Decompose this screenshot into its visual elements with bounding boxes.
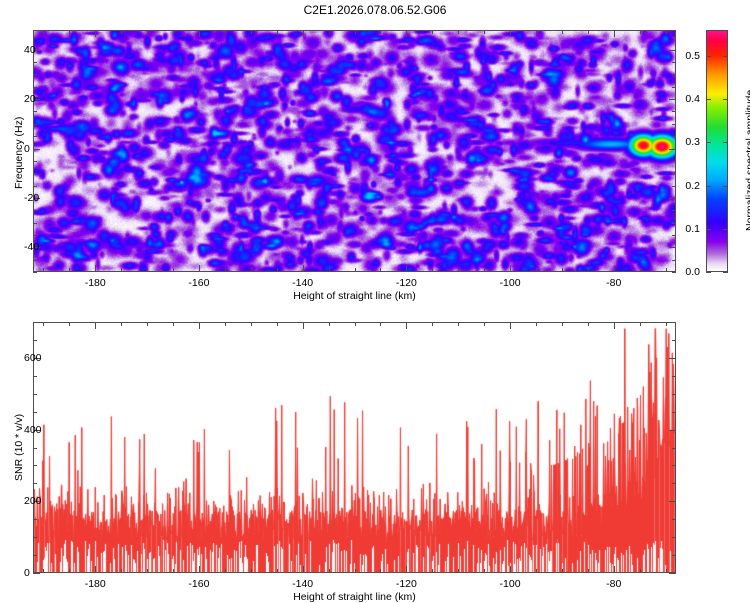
axis-tick: [640, 569, 641, 573]
axis-tick: [33, 62, 37, 63]
colorbar-tick: [706, 56, 711, 57]
colorbar-tick: [723, 142, 728, 143]
axis-tick: [672, 173, 676, 174]
axis-tick: [672, 412, 676, 413]
axis-tick: [303, 322, 304, 329]
axis-tick: [33, 483, 37, 484]
snr-y-axis-title: SNR (10 * v/v): [13, 413, 25, 480]
colorbar-tick: [723, 99, 728, 100]
snr-panel: [33, 322, 676, 573]
axis-tick: [380, 30, 381, 34]
axis-tick: [510, 566, 511, 573]
axis-tick: [672, 448, 676, 449]
axis-tick: [277, 569, 278, 573]
axis-tick: [588, 322, 589, 326]
axis-tick: [484, 322, 485, 326]
axis-tick: [484, 30, 485, 34]
axis-tick: [43, 268, 44, 272]
axis-tick: [95, 30, 96, 37]
axis-tick-label: -80: [606, 578, 621, 590]
axis-tick-label: -160: [188, 277, 209, 289]
axis-tick: [562, 569, 563, 573]
axis-tick-label: -180: [85, 277, 106, 289]
colorbar-tick: [723, 229, 728, 230]
axis-tick: [640, 268, 641, 272]
axis-tick: [33, 555, 37, 556]
axis-tick: [666, 322, 667, 326]
figure-root: C2E1.2026.078.06.52.G06 -180-160-140-120…: [0, 0, 750, 600]
axis-tick: [666, 268, 667, 272]
colorbar-tick: [706, 142, 711, 143]
axis-tick: [669, 573, 676, 574]
axis-tick: [510, 30, 511, 37]
colorbar-tick: [723, 56, 728, 57]
axis-tick: [95, 322, 96, 329]
colorbar-tick: [723, 186, 728, 187]
axis-tick: [251, 569, 252, 573]
axis-tick: [672, 555, 676, 556]
axis-tick: [562, 268, 563, 272]
axis-tick: [640, 322, 641, 326]
axis-tick: [303, 265, 304, 272]
axis-tick: [458, 268, 459, 272]
axis-tick: [33, 161, 37, 162]
axis-tick: [672, 62, 676, 63]
axis-tick: [33, 448, 37, 449]
axis-tick: [43, 30, 44, 34]
axis-tick: [329, 30, 330, 34]
axis-tick: [121, 569, 122, 573]
axis-tick: [672, 394, 676, 395]
axis-tick: [225, 30, 226, 34]
axis-tick: [380, 322, 381, 326]
axis-tick: [614, 566, 615, 573]
axis-tick: [484, 569, 485, 573]
axis-tick: [33, 37, 37, 38]
axis-tick: [669, 99, 676, 100]
axis-tick: [329, 268, 330, 272]
axis-tick: [33, 223, 37, 224]
axis-tick: [458, 30, 459, 34]
axis-tick: [536, 569, 537, 573]
colorbar-tick-label: 0.3: [685, 136, 700, 148]
spectrogram-panel: [33, 30, 676, 272]
axis-tick: [121, 268, 122, 272]
axis-tick: [43, 569, 44, 573]
axis-tick: [510, 322, 511, 329]
axis-tick: [672, 124, 676, 125]
axis-tick: [432, 569, 433, 573]
axis-tick: [43, 322, 44, 326]
axis-tick: [33, 376, 37, 377]
axis-tick: [33, 149, 40, 150]
axis-tick: [121, 322, 122, 326]
axis-tick: [536, 268, 537, 272]
axis-tick: [510, 265, 511, 272]
axis-tick: [588, 569, 589, 573]
spectrogram-y-axis-title: Frequency (Hz): [13, 117, 25, 189]
axis-tick: [69, 30, 70, 34]
axis-tick: [147, 268, 148, 272]
axis-tick: [672, 465, 676, 466]
colorbar-gradient: [707, 31, 727, 271]
colorbar-tick: [723, 272, 728, 273]
axis-tick-label: -160: [188, 578, 209, 590]
colorbar-tick-label: 0.4: [685, 93, 700, 105]
axis-tick: [355, 268, 356, 272]
axis-tick: [199, 265, 200, 272]
axis-tick: [33, 394, 37, 395]
axis-tick: [672, 272, 676, 273]
axis-tick: [562, 322, 563, 326]
axis-tick: [33, 412, 37, 413]
axis-tick: [672, 87, 676, 88]
axis-tick: [672, 74, 676, 75]
axis-tick: [672, 210, 676, 211]
axis-tick: [672, 260, 676, 261]
axis-tick: [458, 322, 459, 326]
axis-tick: [173, 322, 174, 326]
axis-tick: [672, 376, 676, 377]
axis-tick: [406, 30, 407, 37]
axis-tick: [33, 537, 37, 538]
axis-tick: [614, 265, 615, 272]
axis-tick: [33, 340, 37, 341]
axis-tick: [33, 235, 37, 236]
axis-tick: [69, 322, 70, 326]
axis-tick: [588, 30, 589, 34]
axis-tick: [672, 235, 676, 236]
axis-tick: [329, 322, 330, 326]
axis-tick-label: -180: [85, 578, 106, 590]
axis-tick: [199, 322, 200, 329]
axis-tick: [669, 501, 676, 502]
axis-tick: [33, 87, 37, 88]
axis-tick: [33, 111, 37, 112]
colorbar-tick-label: 0.5: [685, 50, 700, 62]
axis-tick: [432, 268, 433, 272]
colorbar-tick: [706, 229, 711, 230]
axis-tick: [536, 30, 537, 34]
page-title: C2E1.2026.078.06.52.G06: [0, 3, 750, 17]
axis-tick: [669, 247, 676, 248]
axis-tick: [277, 268, 278, 272]
axis-tick: [672, 161, 676, 162]
axis-tick: [33, 136, 37, 137]
axis-tick: [147, 30, 148, 34]
axis-tick: [33, 272, 37, 273]
axis-tick: [406, 566, 407, 573]
axis-tick: [484, 268, 485, 272]
axis-tick: [95, 265, 96, 272]
axis-tick: [432, 30, 433, 34]
axis-tick: [614, 30, 615, 37]
axis-tick: [406, 322, 407, 329]
axis-tick: [199, 30, 200, 37]
axis-tick: [355, 30, 356, 34]
axis-tick: [588, 268, 589, 272]
axis-tick: [69, 268, 70, 272]
axis-tick: [672, 111, 676, 112]
colorbar-tick: [706, 99, 711, 100]
axis-tick: [33, 186, 37, 187]
axis-tick: [33, 519, 37, 520]
colorbar-tick-label: 0.1: [685, 223, 700, 235]
axis-tick: [536, 322, 537, 326]
axis-tick: [69, 569, 70, 573]
axis-tick: [562, 30, 563, 34]
spectrogram-image: [34, 31, 675, 271]
axis-tick: [173, 30, 174, 34]
colorbar: [706, 30, 728, 272]
colorbar-title: Normalized spectral amplitude: [744, 90, 750, 231]
axis-tick: [672, 136, 676, 137]
axis-tick: [33, 74, 37, 75]
axis-tick: [640, 30, 641, 34]
axis-tick: [432, 322, 433, 326]
axis-tick: [672, 186, 676, 187]
axis-tick: [355, 569, 356, 573]
axis-tick: [666, 569, 667, 573]
colorbar-tick: [706, 272, 711, 273]
axis-tick-label: -80: [606, 277, 621, 289]
axis-tick: [329, 569, 330, 573]
colorbar-tick-label: 0.2: [685, 180, 700, 192]
axis-tick: [173, 268, 174, 272]
axis-tick: [380, 268, 381, 272]
axis-tick-label: -100: [500, 277, 521, 289]
axis-tick: [672, 340, 676, 341]
colorbar-tick-label: 0.0: [685, 266, 700, 278]
colorbar-tick: [706, 186, 711, 187]
axis-tick-label: -140: [292, 578, 313, 590]
axis-tick: [251, 30, 252, 34]
axis-tick-label: -140: [292, 277, 313, 289]
axis-tick: [303, 566, 304, 573]
axis-tick: [614, 322, 615, 329]
axis-tick: [669, 358, 676, 359]
axis-tick: [173, 569, 174, 573]
axis-tick: [672, 483, 676, 484]
snr-trace: [34, 323, 675, 572]
axis-tick: [33, 465, 37, 466]
axis-tick: [458, 569, 459, 573]
axis-tick: [355, 322, 356, 326]
axis-tick: [277, 30, 278, 34]
axis-tick: [303, 30, 304, 37]
axis-tick: [33, 260, 37, 261]
axis-tick: [669, 198, 676, 199]
axis-tick: [380, 569, 381, 573]
axis-tick: [33, 210, 37, 211]
axis-tick: [33, 573, 40, 574]
axis-tick: [199, 566, 200, 573]
axis-tick: [672, 37, 676, 38]
axis-tick-label: -100: [500, 578, 521, 590]
axis-tick: [666, 30, 667, 34]
axis-tick: [147, 322, 148, 326]
axis-tick: [251, 268, 252, 272]
axis-tick: [121, 30, 122, 34]
axis-tick: [225, 268, 226, 272]
axis-tick: [672, 537, 676, 538]
axis-tick: [406, 265, 407, 272]
axis-tick: [225, 322, 226, 326]
axis-tick: [225, 569, 226, 573]
axis-tick: [33, 173, 37, 174]
axis-tick: [33, 322, 37, 323]
axis-tick-label: -120: [396, 277, 417, 289]
axis-tick: [251, 322, 252, 326]
axis-tick: [669, 50, 676, 51]
axis-tick: [669, 149, 676, 150]
axis-tick: [95, 566, 96, 573]
axis-tick: [277, 322, 278, 326]
axis-tick: [672, 223, 676, 224]
axis-tick: [669, 430, 676, 431]
snr-x-axis-title: Height of straight line (km): [293, 591, 416, 603]
axis-tick: [147, 569, 148, 573]
axis-tick: [33, 124, 37, 125]
axis-tick: [672, 519, 676, 520]
axis-tick-label: -120: [396, 578, 417, 590]
axis-tick: [672, 322, 676, 323]
spectrogram-x-axis-title: Height of straight line (km): [293, 290, 416, 302]
